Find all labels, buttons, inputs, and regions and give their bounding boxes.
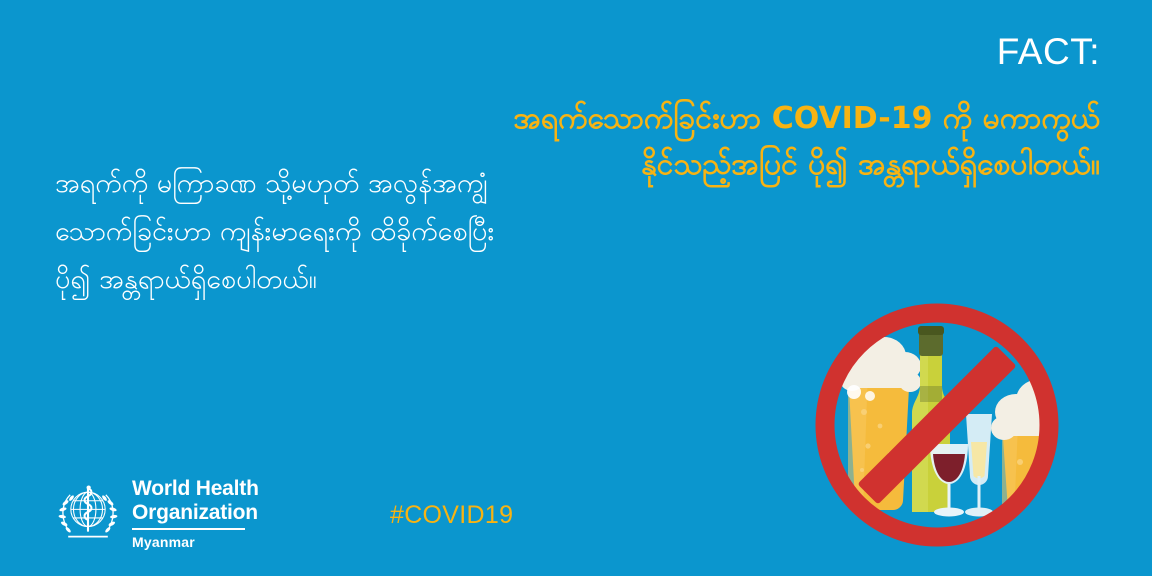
who-country-label: Myanmar	[132, 535, 259, 549]
who-line-1: World Health	[132, 477, 259, 501]
who-logo: World Health Organization Myanmar	[55, 475, 259, 549]
no-alcohol-illustration	[806, 294, 1068, 556]
body-text: အရက်ကို မကြာခဏ သို့မဟုတ် အလွန်အကျွံ သောက…	[55, 160, 525, 304]
who-emblem-icon	[55, 479, 121, 545]
who-divider	[132, 528, 245, 530]
who-line-2: Organization	[132, 501, 259, 525]
hashtag-covid19: #COVID19	[390, 503, 513, 528]
headline-text: အရက်သောက်ခြင်းဟာ COVID-19 ကို မကာကွယ်နို…	[500, 96, 1100, 187]
who-wordmark: World Health Organization Myanmar	[132, 475, 259, 549]
fact-label: FACT:	[997, 33, 1100, 70]
poster-canvas: FACT: အရက်သောက်ခြင်းဟာ COVID-19 ကို မကာက…	[0, 0, 1152, 576]
champagne-flute	[965, 414, 993, 517]
